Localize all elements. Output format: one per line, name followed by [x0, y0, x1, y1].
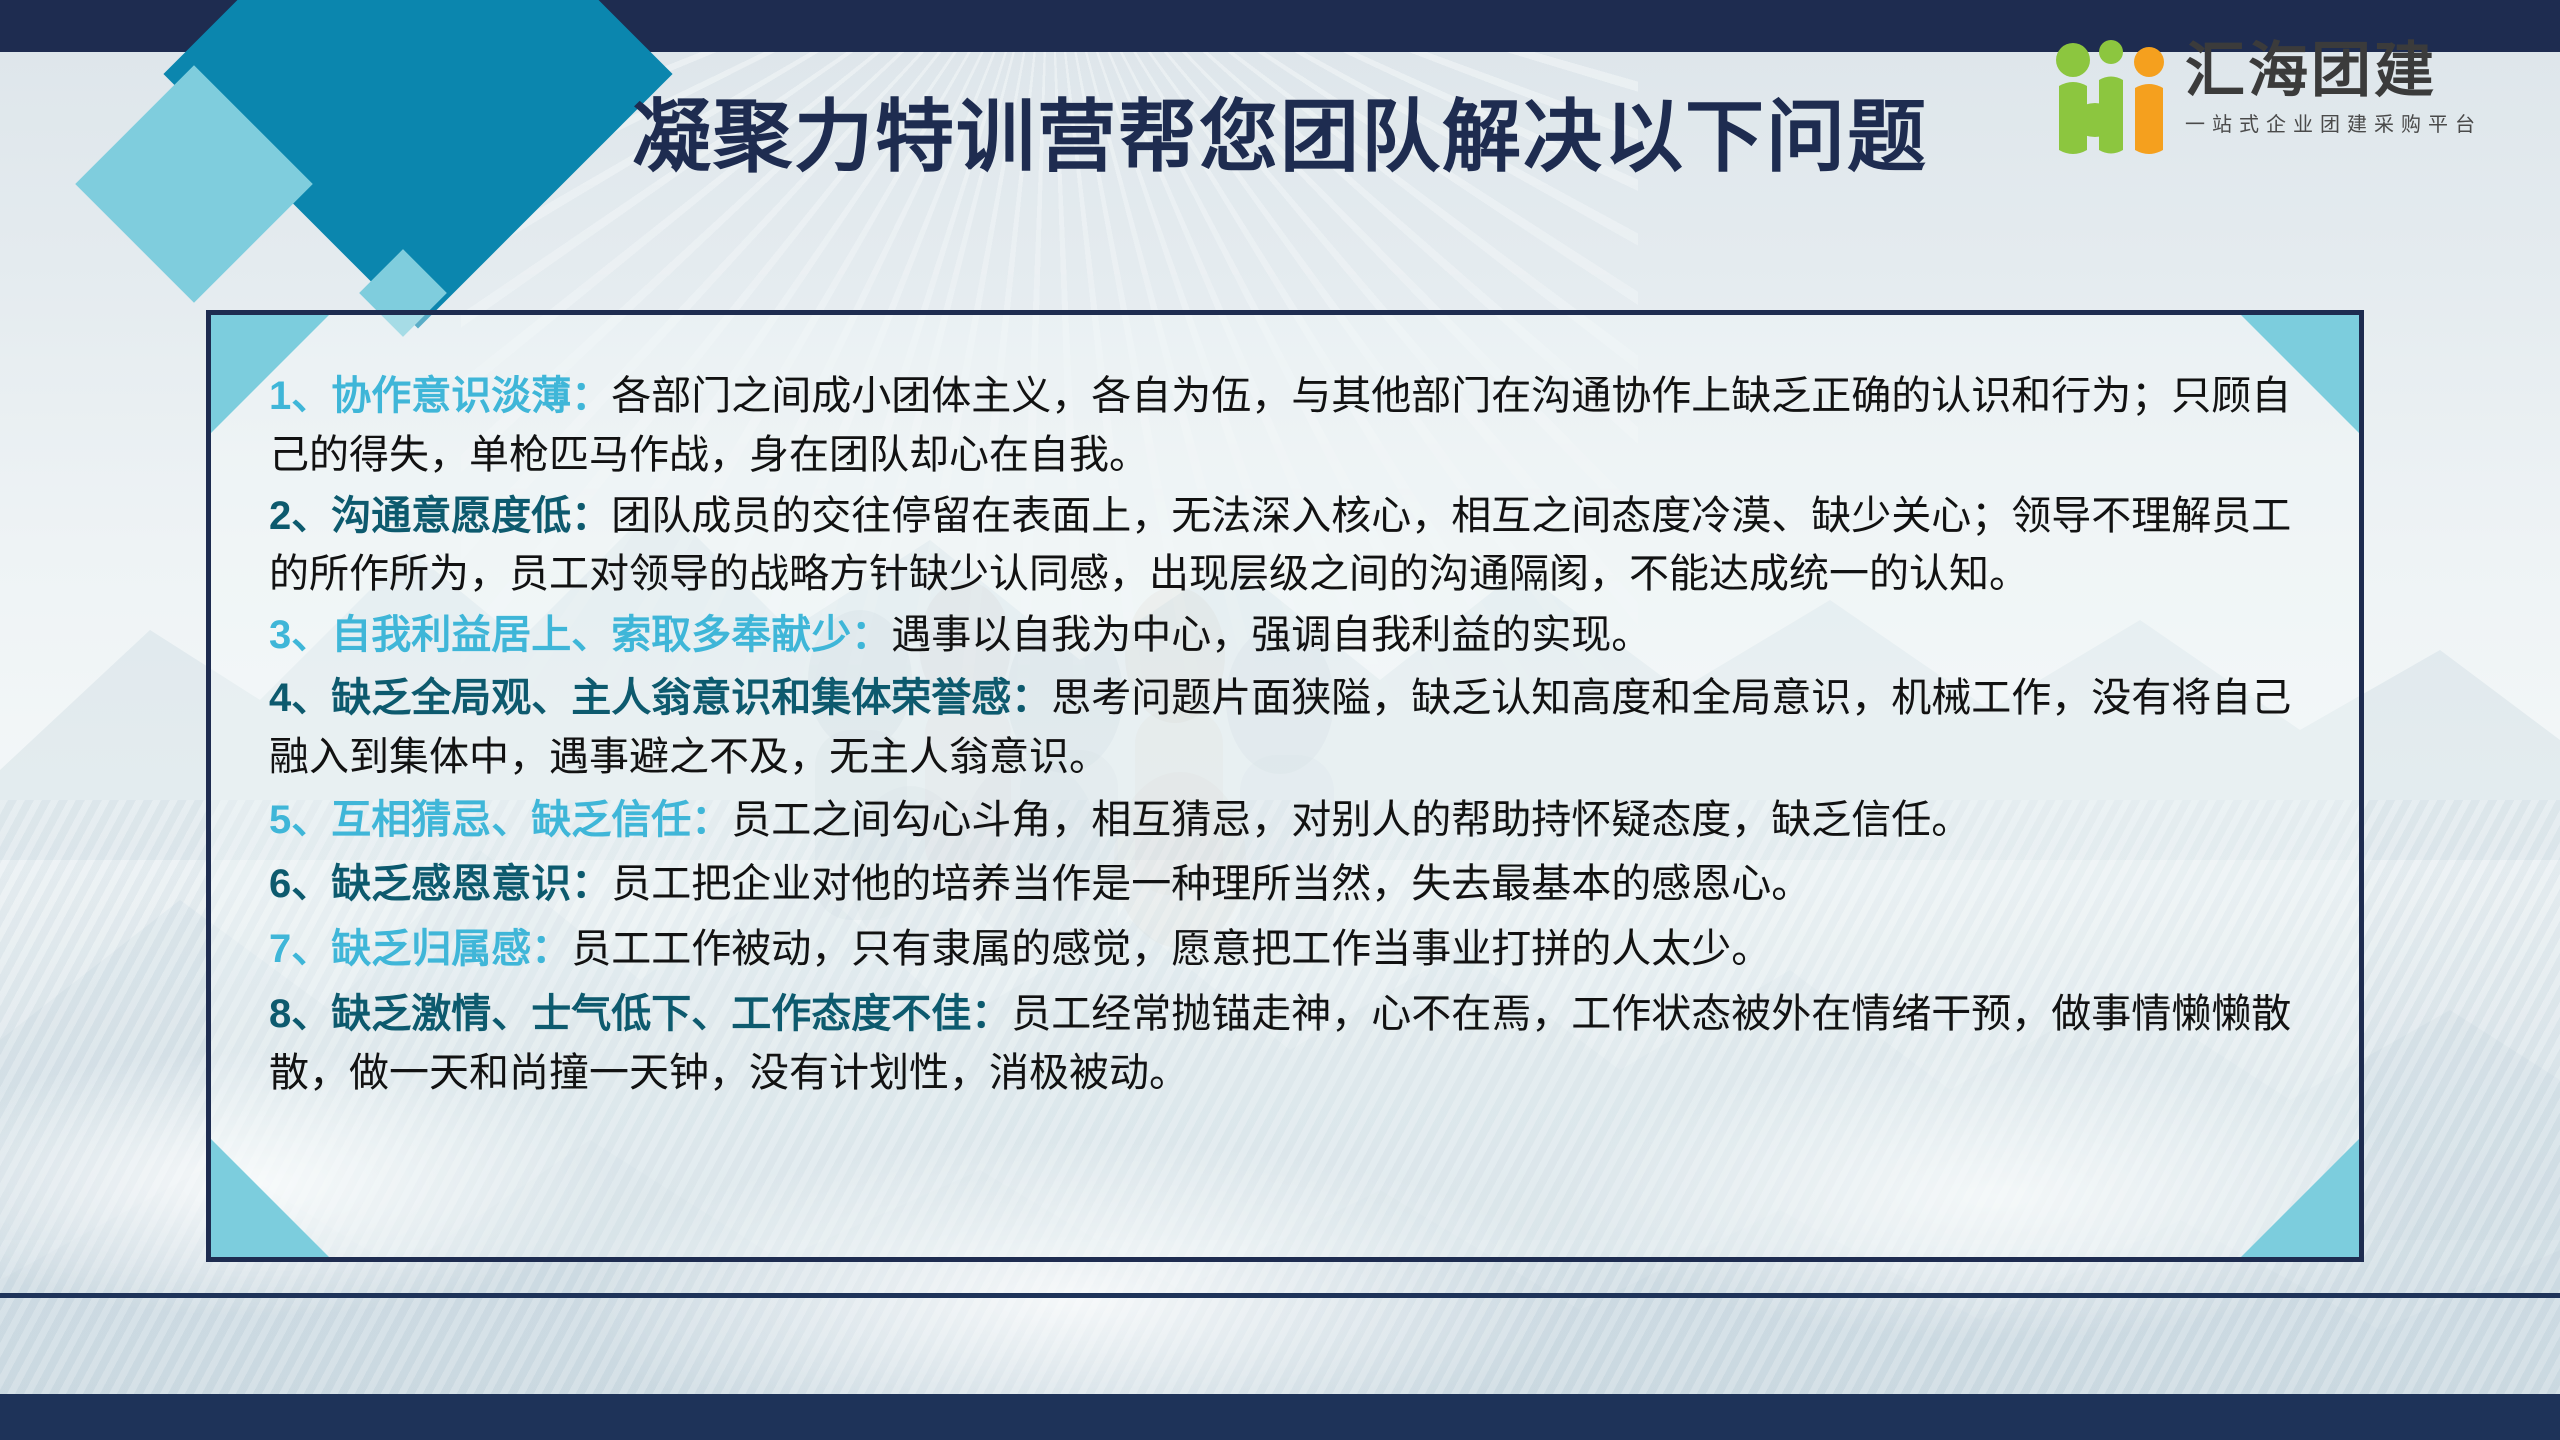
list-item: 6、缺乏感恩意识：员工把企业对他的培养当作是一种理所当然，失去最基本的感恩心。: [269, 855, 2313, 914]
list-item: 7、缺乏归属感：员工工作被动，只有隶属的感觉，愿意把工作当事业打拼的人太少。: [269, 920, 2313, 979]
list-item-body: 员工之间勾心斗角，相互猜忌，对别人的帮助持怀疑态度，缺乏信任。: [731, 798, 1971, 842]
list-item: 4、缺乏全局观、主人翁意识和集体荣誉感：思考问题片面狭隘，缺乏认知高度和全局意识…: [269, 669, 2313, 787]
problems-list: 1、协作意识淡薄：各部门之间成小团体主义，各自为伍，与其他部门在沟通协作上缺乏正…: [211, 315, 2359, 1103]
list-item-number: 6、: [269, 862, 331, 906]
list-item-number: 5、: [269, 798, 331, 842]
list-item-lead: 自我利益居上、索取多奉献少：: [331, 613, 891, 657]
list-item-body: 员工工作被动，只有隶属的感觉，愿意把工作当事业打拼的人太少。: [571, 927, 1771, 971]
list-item-body: 遇事以自我为中心，强调自我利益的实现。: [891, 613, 1651, 657]
list-item-lead: 缺乏全局观、主人翁意识和集体荣誉感：: [331, 676, 1051, 720]
list-item: 5、互相猜忌、缺乏信任：员工之间勾心斗角，相互猜忌，对别人的帮助持怀疑态度，缺乏…: [269, 791, 2313, 850]
corner-triangle-bottom-right: [2241, 1139, 2359, 1257]
list-item-lead: 协作意识淡薄：: [331, 374, 611, 418]
list-item: 2、沟通意愿度低：团队成员的交往停留在表面上，无法深入核心，相互之间态度冷漠、缺…: [269, 487, 2313, 605]
list-item: 1、协作意识淡薄：各部门之间成小团体主义，各自为伍，与其他部门在沟通协作上缺乏正…: [269, 367, 2313, 485]
problems-panel: 1、协作意识淡薄：各部门之间成小团体主义，各自为伍，与其他部门在沟通协作上缺乏正…: [206, 310, 2364, 1262]
list-item-number: 1、: [269, 374, 331, 418]
list-item: 8、缺乏激情、士气低下、工作态度不佳：员工经常抛锚走神，心不在焉，工作状态被外在…: [269, 985, 2313, 1103]
brand-logo: 汇海团建 一站式企业团建采购平台: [2049, 40, 2482, 158]
list-item-number: 7、: [269, 927, 331, 971]
list-item-number: 3、: [269, 613, 331, 657]
list-item-lead: 互相猜忌、缺乏信任：: [331, 798, 731, 842]
list-item-lead: 缺乏归属感：: [331, 927, 571, 971]
hi-mark-icon: [2049, 40, 2169, 158]
logo-name: 汇海团建: [2185, 40, 2482, 101]
bottom-band: [0, 1394, 2560, 1440]
list-item-number: 2、: [269, 494, 331, 538]
corner-triangle-bottom-left: [211, 1139, 329, 1257]
list-item-lead: 缺乏激情、士气低下、工作态度不佳：: [331, 992, 1011, 1036]
list-item-lead: 沟通意愿度低：: [331, 494, 611, 538]
logo-subtitle: 一站式企业团建采购平台: [2185, 108, 2482, 137]
list-item-lead: 缺乏感恩意识：: [331, 862, 611, 906]
slide-canvas: 凝聚力特训营帮您团队解决以下问题 汇海团建 一站式企业团建采购平台 1、协作意识…: [0, 0, 2560, 1440]
list-item: 3、自我利益居上、索取多奉献少：遇事以自我为中心，强调自我利益的实现。: [269, 606, 2313, 665]
bottom-divider-rule: [0, 1293, 2560, 1298]
list-item-number: 8、: [269, 992, 331, 1036]
list-item-body: 员工把企业对他的培养当作是一种理所当然，失去最基本的感恩心。: [611, 862, 1811, 906]
list-item-number: 4、: [269, 676, 331, 720]
